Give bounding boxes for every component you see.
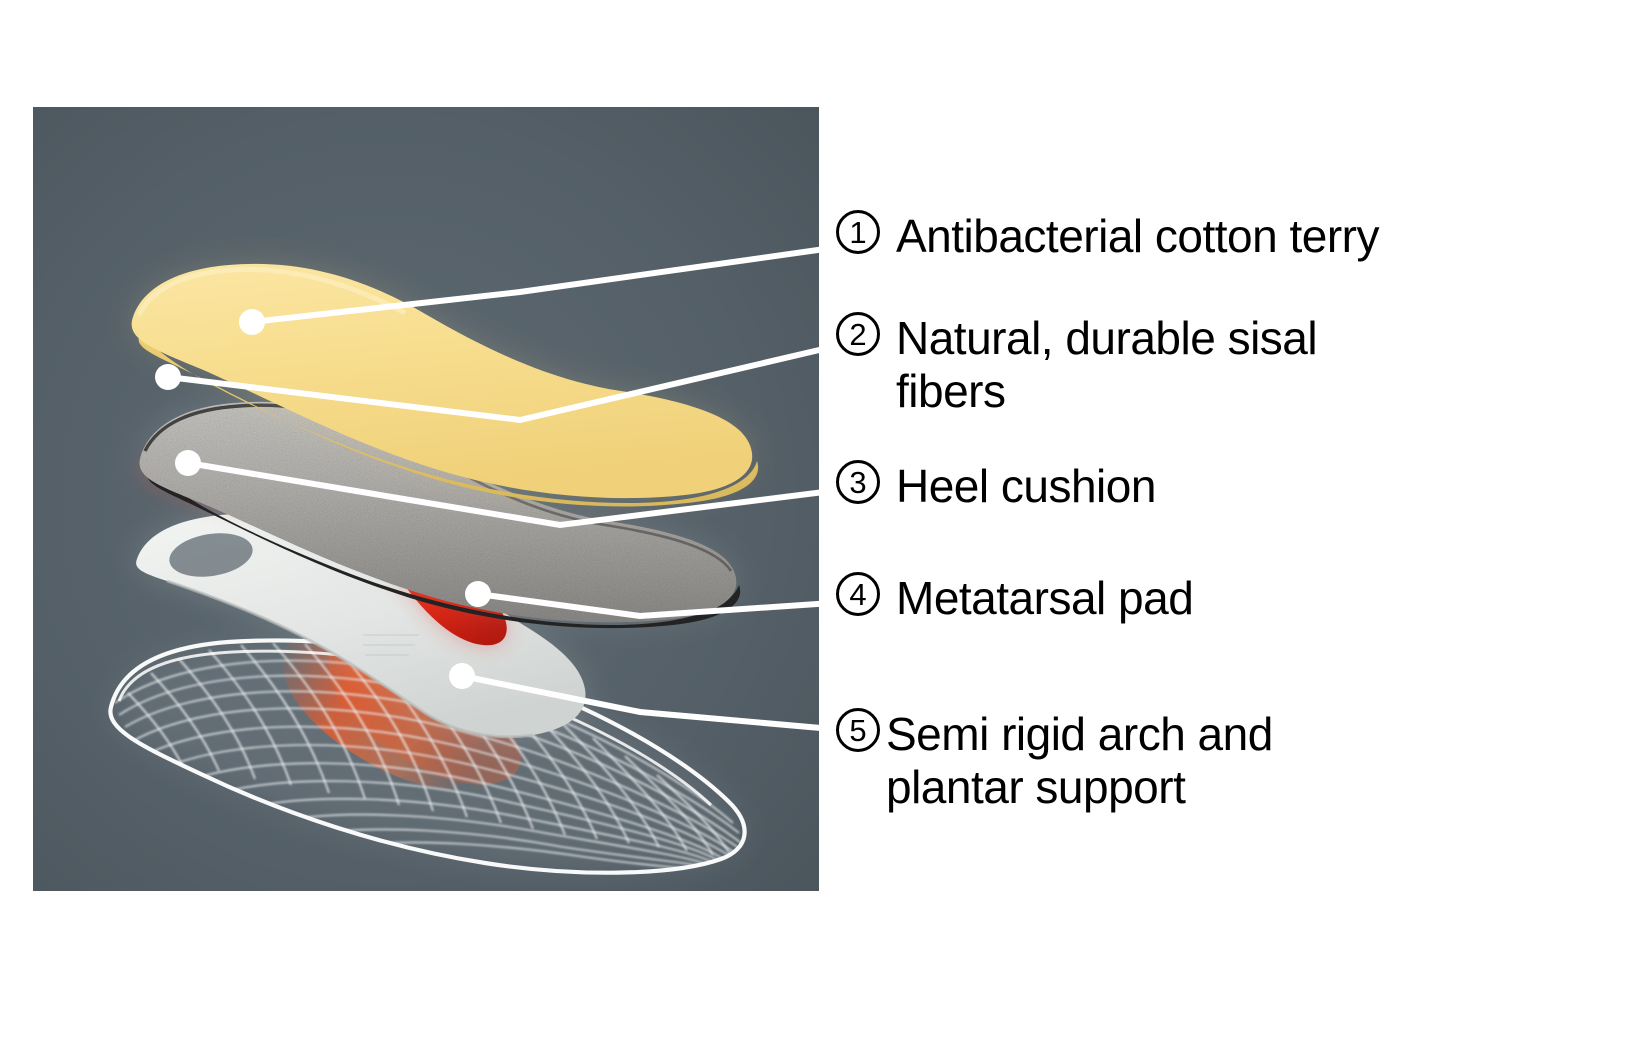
legend-item-4: 4 Metatarsal pad xyxy=(836,572,1193,625)
legend-item-2: 2 Natural, durable sisal fibers xyxy=(836,312,1317,419)
legend-label-3: Heel cushion xyxy=(896,460,1156,513)
insole-layer-diagram: 1 Antibacterial cotton terry 2 Natural, … xyxy=(0,0,1642,1042)
legend-number-badge-4: 4 xyxy=(836,572,880,616)
legend-label-4: Metatarsal pad xyxy=(896,572,1193,625)
legend-number-badge-1: 1 xyxy=(836,210,880,254)
legend-item-5: 5 Semi rigid arch and plantar support xyxy=(836,708,1273,815)
illustration-panel xyxy=(33,107,819,891)
insole-exploded-illustration xyxy=(33,107,819,891)
legend-label-2: Natural, durable sisal fibers xyxy=(896,312,1317,419)
legend-item-1: 1 Antibacterial cotton terry xyxy=(836,210,1379,263)
legend-number-badge-3: 3 xyxy=(836,460,880,504)
legend-number-badge-5: 5 xyxy=(836,708,880,752)
legend-item-3: 3 Heel cushion xyxy=(836,460,1156,513)
legend-label-5: Semi rigid arch and plantar support xyxy=(886,708,1273,815)
legend-label-1: Antibacterial cotton terry xyxy=(896,210,1379,263)
legend-number-badge-2: 2 xyxy=(836,312,880,356)
